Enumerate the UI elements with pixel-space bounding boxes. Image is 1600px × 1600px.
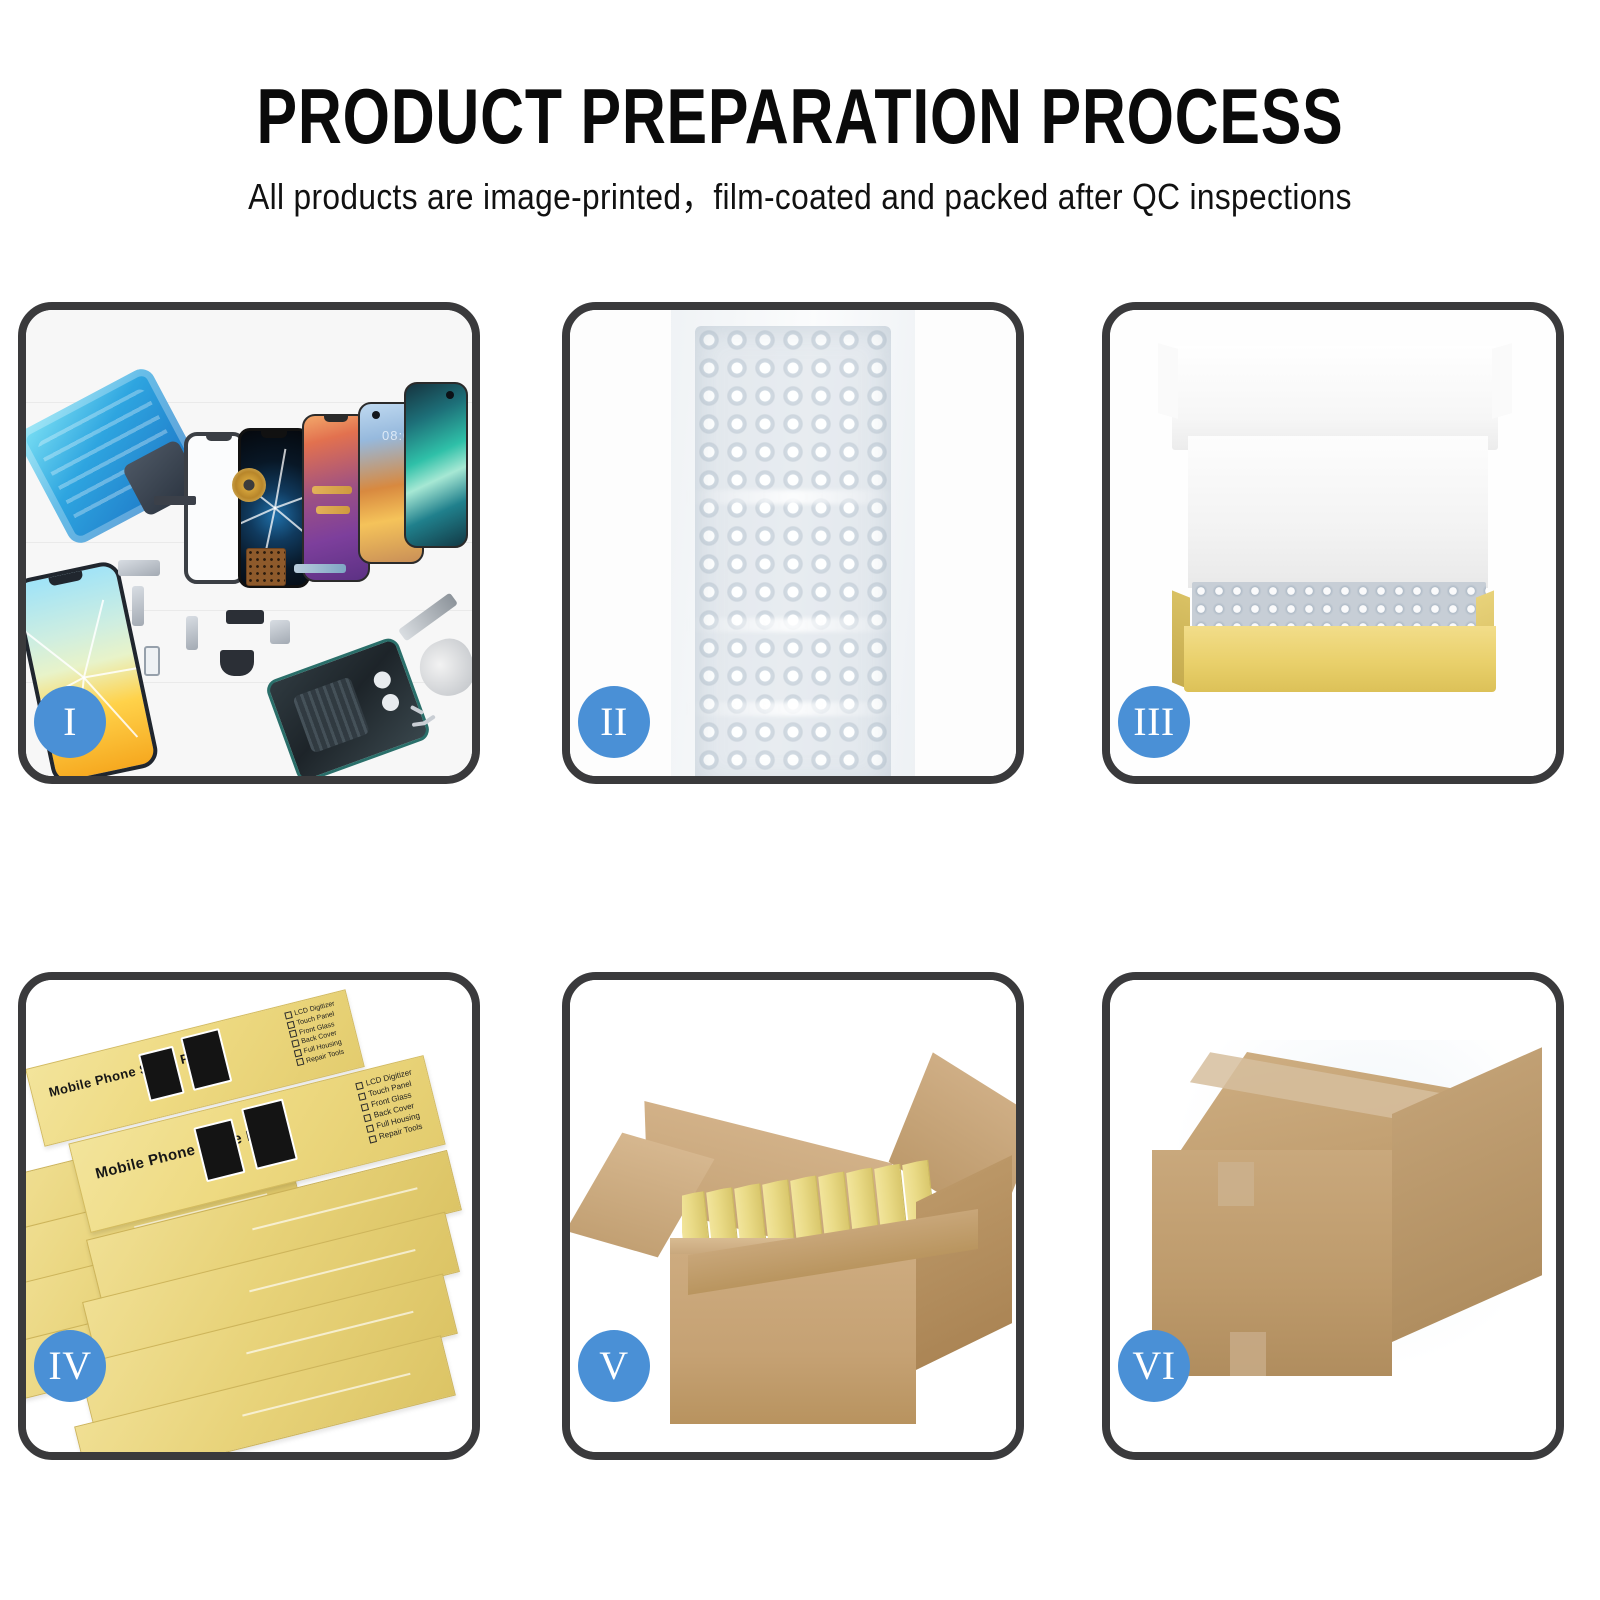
tweezers-icon <box>398 593 458 642</box>
back-housing-part <box>264 635 432 776</box>
step-badge-1: I <box>34 686 106 758</box>
box-back-panel <box>1188 436 1488 588</box>
camera-module-part <box>270 620 290 644</box>
step-badge-5: V <box>578 1330 650 1402</box>
step-badge-2: II <box>578 686 650 758</box>
flex-cable-part-c <box>294 564 346 573</box>
button-flex-part <box>186 616 198 650</box>
bubble-sheen-2 <box>688 618 898 632</box>
box-thumbnail-b <box>181 1028 232 1090</box>
screws-part <box>410 708 444 728</box>
flex-cable-part-a <box>312 486 352 494</box>
bubble-sheen-1 <box>688 490 898 504</box>
carton-tape-tab-upper <box>1218 1162 1254 1206</box>
tempered-glass-icon <box>184 432 246 584</box>
box-thumbnail-a <box>193 1119 245 1183</box>
box-lid <box>1172 346 1498 450</box>
box-checklist: LCD Digitizer Touch Panel Front Glass Ba… <box>355 1067 426 1145</box>
bubble-wrapped-item <box>1192 582 1486 630</box>
teal-phone <box>404 382 468 548</box>
step-badge-4: IV <box>34 1330 106 1402</box>
sealed-carton-front <box>1152 1150 1392 1376</box>
cleaning-brush-icon <box>411 632 472 704</box>
step-badge-6: VI <box>1118 1330 1190 1402</box>
vibrator-part <box>226 610 264 624</box>
metal-bracket-part <box>118 560 160 576</box>
flex-cable-part-b <box>316 506 350 514</box>
wireless-coil-part <box>232 468 266 502</box>
page-title: PRODUCT PREPARATION PROCESS <box>176 76 1424 158</box>
speaker-mesh-part <box>154 496 196 505</box>
carton-tape-tab-lower <box>1230 1332 1266 1376</box>
box-front-panel <box>1184 626 1496 692</box>
earpiece-part <box>220 650 254 676</box>
infographic-page: PRODUCT PREPARATION PROCESS All products… <box>0 0 1600 1600</box>
bubble-sheen-3 <box>688 702 898 716</box>
box-checklist: LCD Digitizer Touch Panel Front Glass Ba… <box>284 1000 348 1069</box>
side-rail-part <box>132 586 144 626</box>
ic-chip-part <box>246 548 286 586</box>
sim-tray-part <box>144 646 160 676</box>
page-subtitle: All products are image-printed，film-coat… <box>96 168 1504 220</box>
box-thumbnail-b <box>241 1099 299 1171</box>
step-badge-3: III <box>1118 686 1190 758</box>
